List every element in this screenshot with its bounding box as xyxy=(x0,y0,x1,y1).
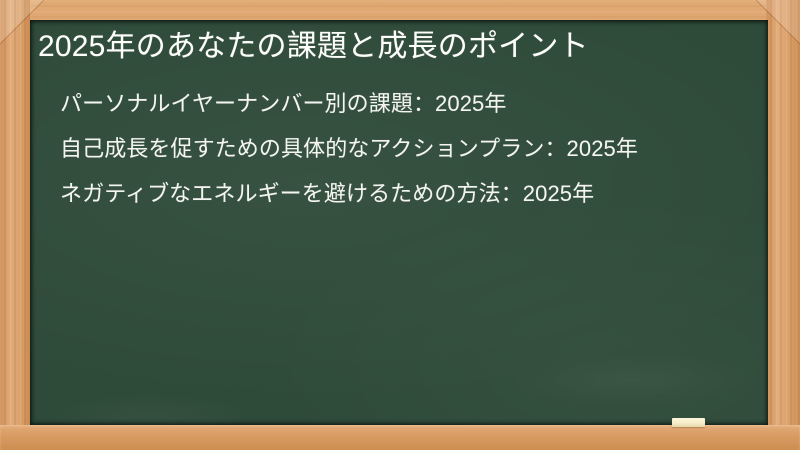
list-item: ネガティブなエネルギーを避けるための方法：2025年 xyxy=(60,178,754,209)
chalk-stick xyxy=(672,418,705,427)
topic-list: パーソナルイヤーナンバー別の課題：2025年 自己成長を促すための具体的なアクシ… xyxy=(38,88,754,209)
frame-left-stile xyxy=(0,0,30,450)
list-item: パーソナルイヤーナンバー別の課題：2025年 xyxy=(60,88,754,119)
chalk-ledge xyxy=(0,425,800,450)
chalkboard-surface: 2025年のあなたの課題と成長のポイント パーソナルイヤーナンバー別の課題：20… xyxy=(30,20,768,425)
frame-right-stile xyxy=(766,0,800,450)
board-content: 2025年のあなたの課題と成長のポイント パーソナルイヤーナンバー別の課題：20… xyxy=(30,20,768,209)
blackboard-scene: 2025年のあなたの課題と成長のポイント パーソナルイヤーナンバー別の課題：20… xyxy=(0,0,800,450)
page-title: 2025年のあなたの課題と成長のポイント xyxy=(38,26,754,67)
list-item: 自己成長を促すための具体的なアクションプラン：2025年 xyxy=(60,133,754,164)
